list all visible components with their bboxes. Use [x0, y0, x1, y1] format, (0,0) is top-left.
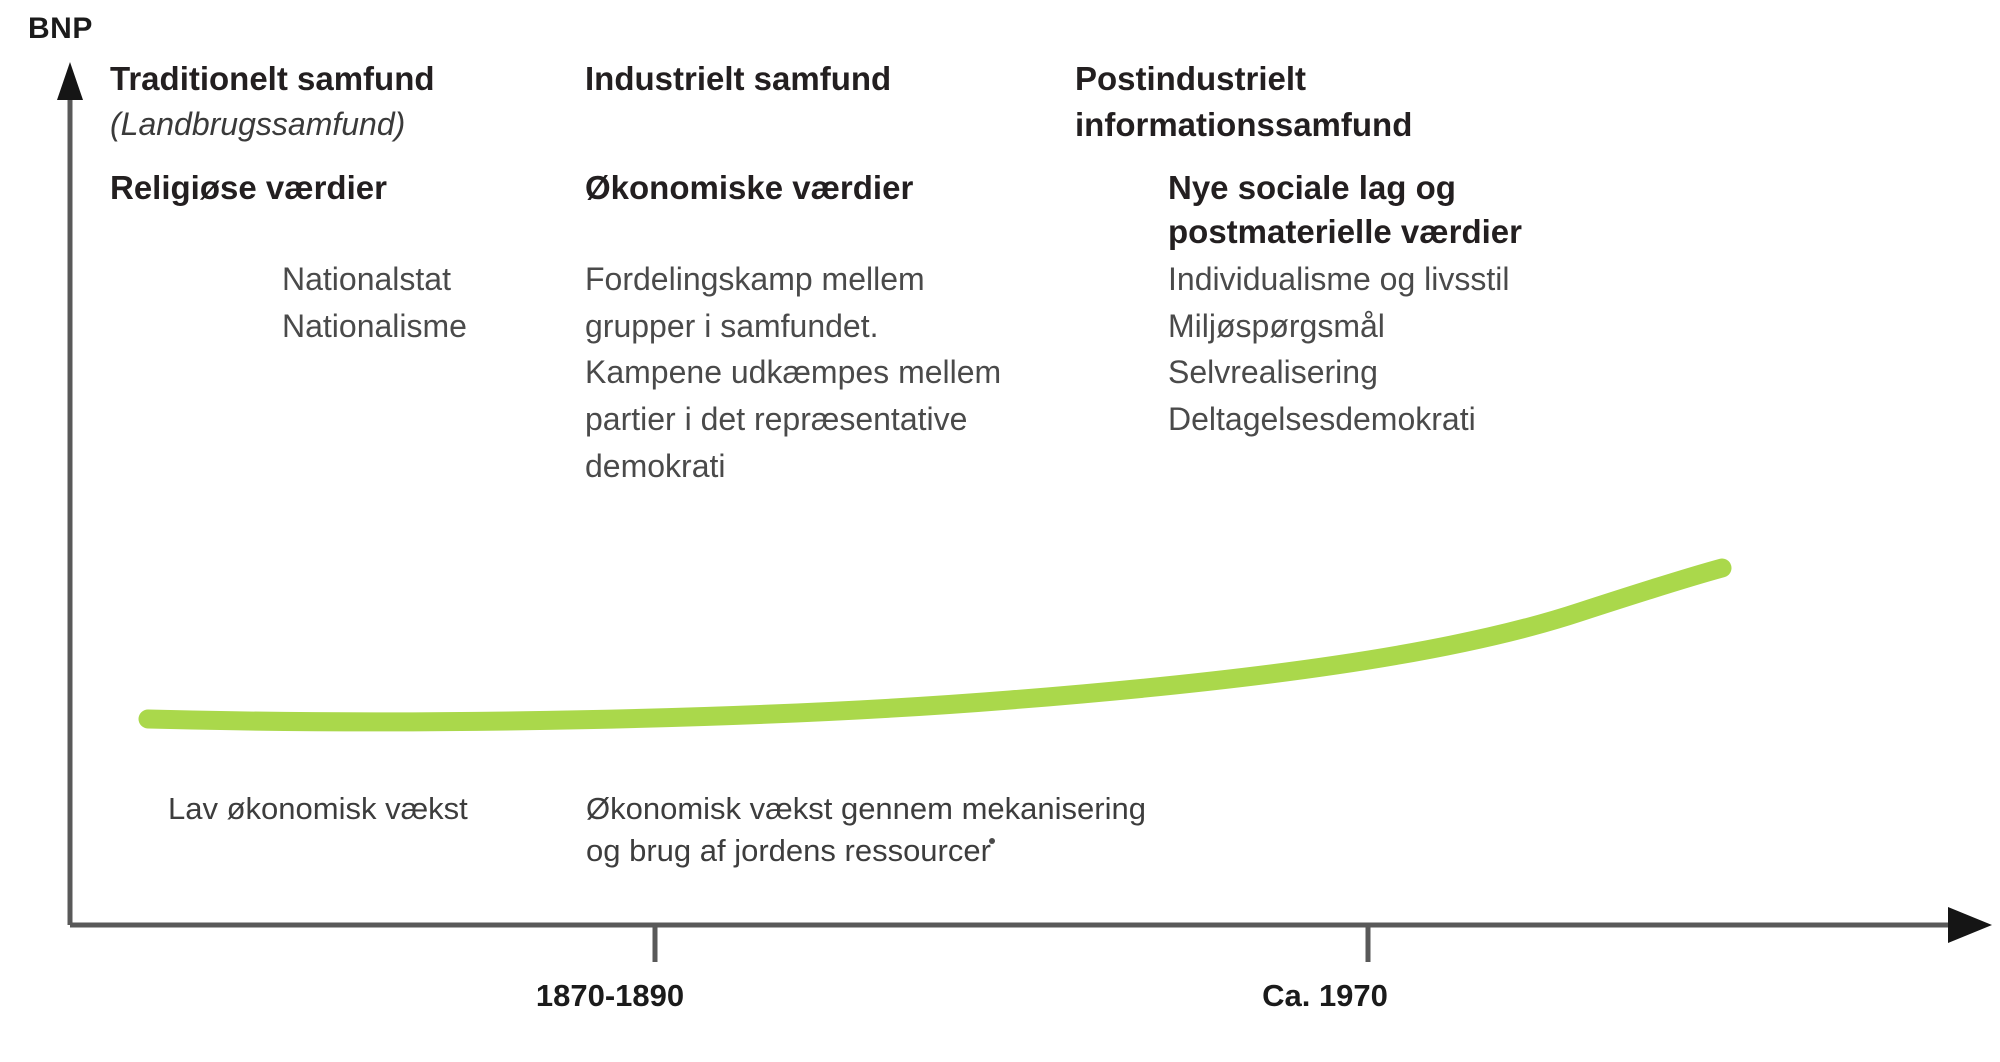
values-heading-industrial: Økonomiske værdier [585, 166, 913, 210]
y-axis-label: BNP [28, 12, 93, 46]
values-heading-postindustrial: Nye sociale lag og postmaterielle værdie… [1168, 166, 1522, 254]
column-traditional: Traditionelt samfund (Landbrugssamfund) [110, 56, 435, 146]
list-item: Individualisme og livsstil [1168, 256, 1509, 303]
list-item: Selvrealisering [1168, 349, 1509, 396]
gdp-growth-curve [148, 568, 1722, 722]
list-item: Miljøspørgsmål [1168, 303, 1509, 350]
list-item: partier i det repræsentative [585, 396, 1001, 443]
era-title: Traditionelt samfund [110, 56, 435, 102]
x-axis-arrow-icon [1948, 907, 1992, 943]
bullets-postindustrial: Individualisme og livsstil Miljøspørgsmå… [1168, 256, 1509, 443]
list-item: Nationalstat [282, 256, 467, 303]
era-title: Postindustrielt informationssamfund [1075, 56, 1412, 147]
column-postindustrial: Postindustrielt informationssamfund [1075, 56, 1412, 147]
era-title: Industrielt samfund [585, 56, 891, 102]
list-item: Nationalisme [282, 303, 467, 350]
scan-speck [989, 838, 995, 844]
diagram-canvas: BNP Traditionelt samfund (Landbrugssamfu… [0, 0, 2000, 1062]
list-item: demokrati [585, 443, 1001, 490]
values-heading-traditional: Religiøse værdier [110, 166, 387, 210]
growth-note-industrial: Økonomisk vækst gennem mekanisering og b… [586, 788, 1146, 872]
list-item: Fordelingskamp mellem [585, 256, 1001, 303]
list-item: Kampene udkæmpes mellem [585, 349, 1001, 396]
column-industrial: Industrielt samfund [585, 56, 891, 102]
list-item: grupper i samfundet. [585, 303, 1001, 350]
era-subtitle: (Landbrugssamfund) [110, 102, 435, 146]
y-axis-arrow-icon [57, 62, 83, 100]
x-tick-label-1970: Ca. 1970 [1262, 978, 1388, 1014]
growth-note-traditional: Lav økonomisk vækst [168, 788, 468, 830]
bullets-industrial: Fordelingskamp mellem grupper i samfunde… [585, 256, 1001, 490]
axes-and-curve [0, 0, 2000, 1062]
bullets-traditional: Nationalstat Nationalisme [282, 256, 467, 349]
x-tick-label-1870: 1870-1890 [536, 978, 684, 1014]
list-item: Deltagelsesdemokrati [1168, 396, 1509, 443]
